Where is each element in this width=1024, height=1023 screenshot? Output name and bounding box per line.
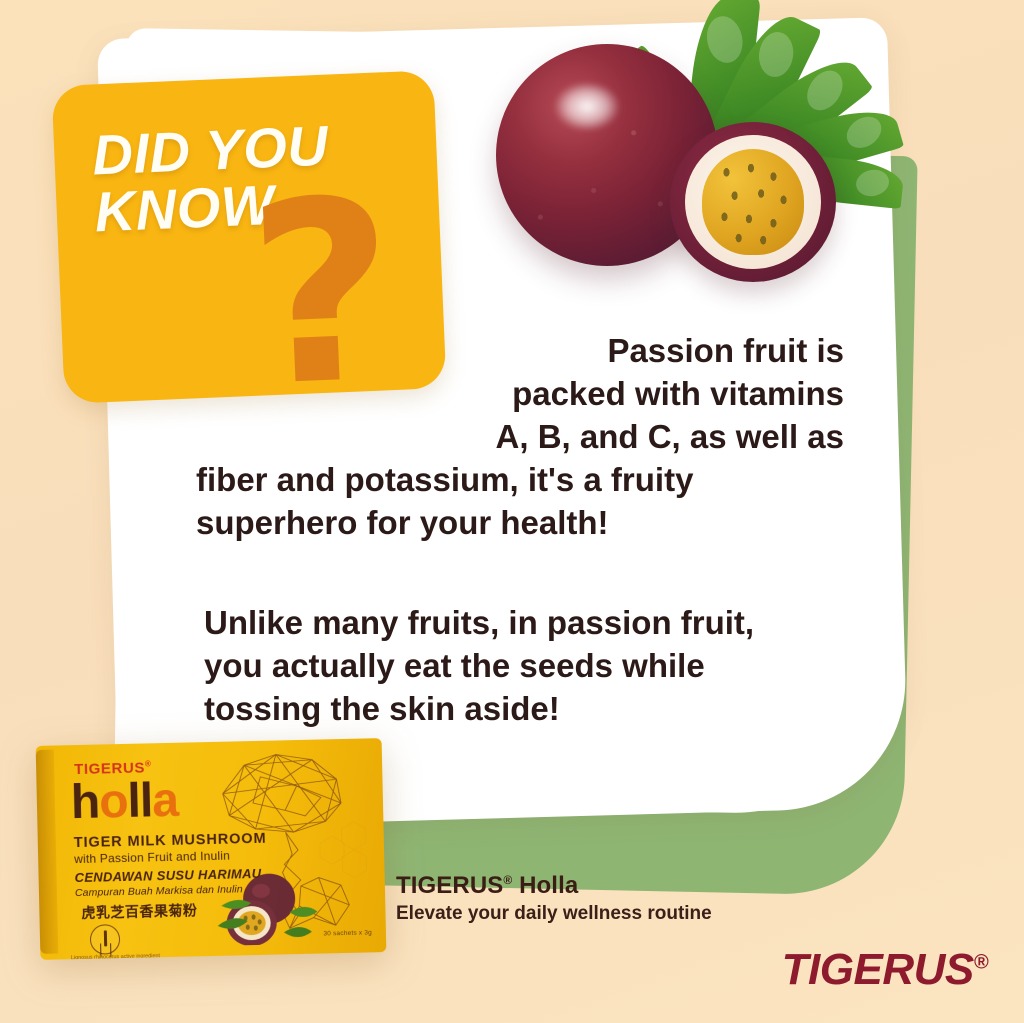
caption-title: TIGERUS® Holla [396,872,712,900]
registered-mark: ® [503,873,512,887]
paragraph-one-line: superhero for your health! [196,502,844,545]
paragraph-two: Unlike many fruits, in passion fruit, yo… [204,602,844,731]
box-net-content: 30 sachets x 3g [323,929,372,937]
product-caption: TIGERUS® Holla Elevate your daily wellne… [396,872,712,925]
box-line-chinese: 虎乳芝百香果菊粉 [81,900,197,923]
tigerus-logo: TIGERUS® [782,945,988,995]
paragraph-one-line: A, B, and C, as well as [196,416,844,459]
caption-subtitle: Elevate your daily wellness routine [396,903,712,925]
body-copy: Passion fruit is packed with vitamins A,… [196,330,844,731]
paragraph-one-line: fiber and potassium, it's a fruity [196,459,844,502]
poster-canvas: DID YOU KNOW ? Passion fruit is packed w… [0,0,1024,1023]
registered-mark: ® [974,951,988,973]
paragraph-two-line: tossing the skin aside! [204,688,844,731]
fruit-pulp-seeds [702,149,805,255]
paragraph-one-line: Passion fruit is [196,330,844,373]
passion-fruit-illustration [470,0,920,314]
paragraph-two-line: Unlike many fruits, in passion fruit, [204,602,844,645]
passion-fruit-halved [670,122,836,282]
halal-emblem-icon [90,924,121,955]
box-product-name: holla [70,777,178,827]
logo-wordmark: TIGERUS [782,945,974,994]
product-box-side-edge [36,750,59,954]
paragraph-two-line: you actually eat the seeds while [204,645,844,688]
paragraph-one-line: packed with vitamins [196,373,844,416]
registered-mark: ® [145,759,152,768]
product-box-image: TIGERUS® holla TIGER MILK MUSHROOM with … [36,738,387,960]
product-box-face: TIGERUS® holla TIGER MILK MUSHROOM with … [36,738,387,960]
paragraph-one: Passion fruit is packed with vitamins A,… [196,330,844,544]
